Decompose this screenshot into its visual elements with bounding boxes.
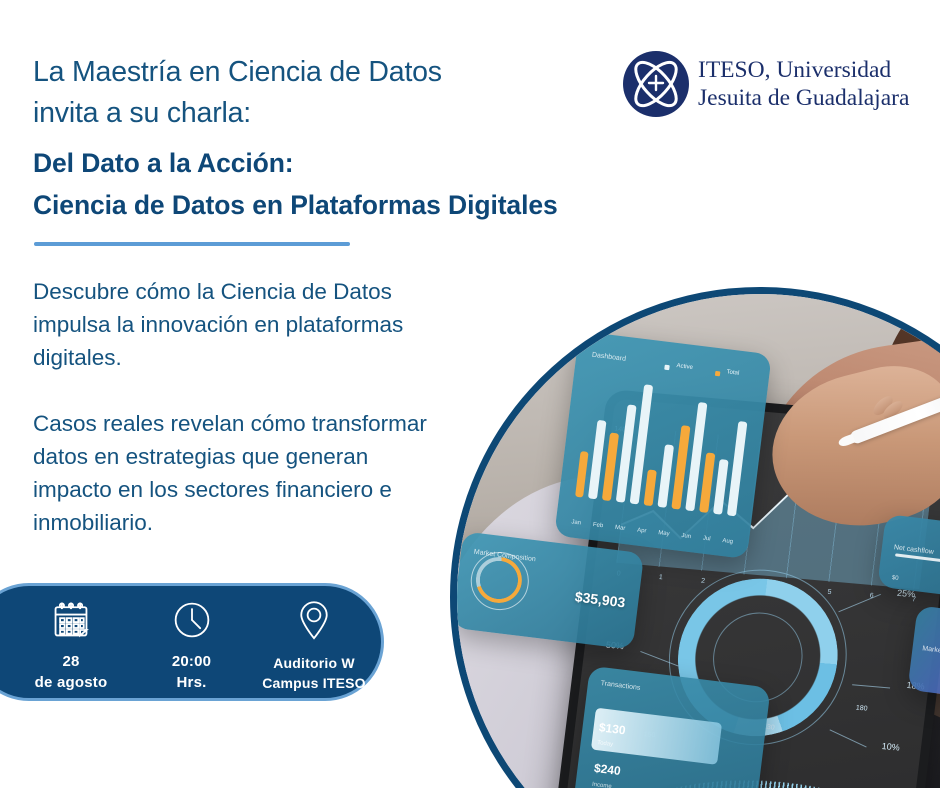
- paragraph-2: Casos reales revelan cómo transformar da…: [33, 407, 453, 539]
- iteso-atom-icon: [622, 50, 690, 118]
- bar-white-6: [713, 460, 729, 515]
- bar-series: [575, 362, 753, 517]
- poster-canvas: La Maestría en Ciencia de Datos invita a…: [0, 0, 940, 788]
- card-profitability-title: Market profitability: [921, 645, 940, 659]
- title-line-2: Ciencia de Datos en Plataformas Digitale…: [33, 184, 713, 226]
- bar-x-jan: Jan: [571, 520, 581, 527]
- tick-2: 2: [701, 577, 706, 584]
- headline-line-2: invita a su charla:: [33, 93, 573, 134]
- event-place-room: Auditorio W: [262, 653, 366, 673]
- transaction-amount-1: $130: [598, 720, 626, 737]
- donut-leader-10: [830, 730, 868, 748]
- bar-white-7: [727, 421, 747, 517]
- paragraph-1: Descubre cómo la Ciencia de Datos impuls…: [33, 275, 453, 374]
- iteso-logo: ITESO, Universidad Jesuita de Guadalajar…: [620, 48, 920, 120]
- card-bar-chart-title: Dashboard: [592, 352, 627, 363]
- cashflow-track: [895, 553, 940, 573]
- card-transactions-title: Transactions: [600, 680, 640, 692]
- legend-dot-active: [665, 365, 671, 371]
- clock-icon: [172, 596, 212, 644]
- calendar-icon: [51, 596, 91, 644]
- event-place-campus: Campus ITESO: [262, 673, 366, 693]
- legend-dot-total: [715, 371, 721, 377]
- event-time: 20:00 Hrs.: [139, 586, 244, 693]
- bar-orange-5: [700, 453, 716, 513]
- body-copy: Descubre cómo la Ciencia de Datos impuls…: [33, 275, 453, 539]
- bar-x-feb: Feb: [593, 522, 604, 529]
- title-divider: [34, 242, 350, 246]
- hero-photo: 140 0 1 2 3 4 5 6 7: [457, 294, 940, 788]
- tick-1: 1: [659, 574, 664, 581]
- bar-x-apr: Apr: [637, 528, 647, 535]
- bar-orange-1: [575, 451, 590, 498]
- event-info-items: 28 de agosto 20:00 Hrs.: [3, 586, 387, 698]
- legend-label-total: Total: [726, 369, 739, 377]
- logo-line-2: Jesuita de Guadalajara: [698, 84, 909, 112]
- bar-x-aug: Aug: [722, 538, 733, 545]
- event-time-text: 20:00 Hrs.: [172, 651, 211, 693]
- event-info-bar: 28 de agosto 20:00 Hrs.: [0, 583, 384, 701]
- page-headline: La Maestría en Ciencia de Datos invita a…: [33, 52, 573, 134]
- iteso-logo-text: ITESO, Universidad Jesuita de Guadalajar…: [698, 56, 909, 112]
- page-title: Del Dato a la Acción: Ciencia de Datos e…: [33, 142, 713, 226]
- event-date-month: de agosto: [35, 672, 108, 693]
- headline-line-1: La Maestría en Ciencia de Datos: [33, 52, 573, 93]
- transaction-amount-2: $240: [593, 761, 621, 778]
- event-place-text: Auditorio W Campus ITESO: [262, 653, 366, 693]
- location-pin-icon: [294, 596, 334, 644]
- title-line-1: Del Dato a la Acción:: [33, 142, 713, 184]
- bar-orange-3: [644, 470, 657, 506]
- legend-label-active: Active: [676, 363, 693, 371]
- hist-label-180: 180: [856, 705, 869, 713]
- revenue-amount: $35,903: [574, 589, 626, 611]
- bar-x-jul: Jul: [703, 536, 711, 543]
- event-date-text: 28 de agosto: [35, 651, 108, 693]
- donut-label-10: 10%: [881, 741, 900, 752]
- donut-leader-18: [852, 684, 890, 688]
- logo-line-1: ITESO, Universidad: [698, 56, 909, 84]
- event-date: 28 de agosto: [3, 586, 139, 693]
- transaction-highlight: [591, 708, 722, 765]
- bar-x-mar: Mar: [615, 525, 626, 532]
- hero-photo-circle: 140 0 1 2 3 4 5 6 7: [450, 287, 940, 788]
- bar-x-jun: Jun: [681, 533, 691, 540]
- tick-5: 5: [827, 589, 832, 596]
- cashflow-min: $0: [892, 576, 899, 583]
- bar-x-may: May: [658, 530, 670, 537]
- card-bar-chart: Dashboard Active Total: [554, 331, 772, 559]
- event-place: Auditorio W Campus ITESO: [244, 586, 384, 693]
- card-transactions: Transactions $130 Today $240 Income $169…: [567, 665, 770, 788]
- event-time-value: 20:00: [172, 651, 211, 672]
- event-date-day: 28: [35, 651, 108, 672]
- event-time-unit: Hrs.: [172, 672, 211, 693]
- transaction-sub-2: Income: [592, 781, 612, 788]
